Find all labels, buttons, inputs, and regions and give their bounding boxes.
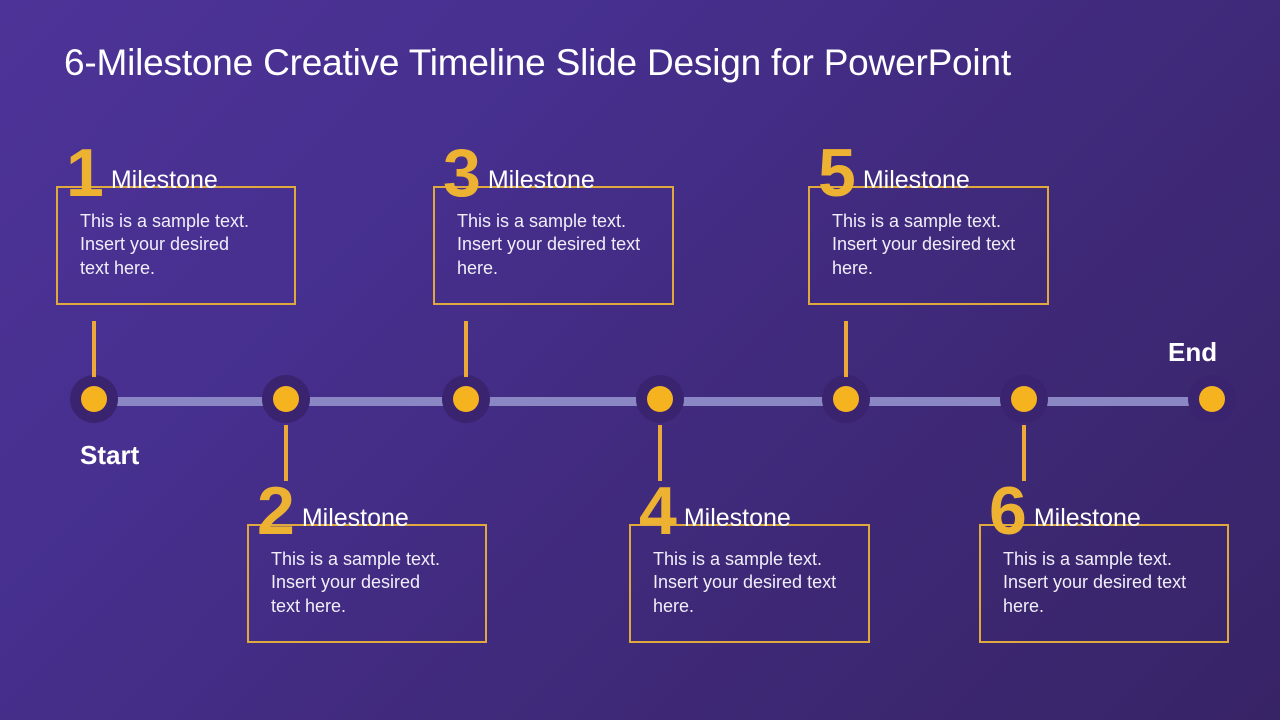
timeline-node-dot	[647, 386, 673, 412]
milestone-label: Milestone	[488, 166, 595, 202]
timeline-node-5[interactable]	[822, 375, 870, 423]
milestone-label: Milestone	[684, 504, 791, 540]
milestone-6[interactable]: 6MilestoneThis is a sample text. Insert …	[979, 478, 1229, 643]
milestone-body-text: This is a sample text. Insert your desir…	[1003, 548, 1209, 618]
milestone-number: 6	[989, 484, 1025, 540]
milestone-body-text: This is a sample text. Insert your desir…	[832, 210, 1029, 280]
milestone-header-4: 4Milestone	[639, 478, 870, 540]
milestone-3[interactable]: 3MilestoneThis is a sample text. Insert …	[433, 140, 674, 305]
milestone-body-text: This is a sample text. Insert your desir…	[653, 548, 850, 618]
page-title: 6-Milestone Creative Timeline Slide Desi…	[64, 42, 1224, 84]
timeline-node-6[interactable]	[1000, 375, 1048, 423]
timeline-node-dot	[81, 386, 107, 412]
start-label: Start	[80, 440, 139, 471]
milestone-2[interactable]: 2MilestoneThis is a sample text. Insert …	[247, 478, 487, 643]
milestone-1[interactable]: 1MilestoneThis is a sample text. Insert …	[56, 140, 296, 305]
milestone-5[interactable]: 5MilestoneThis is a sample text. Insert …	[808, 140, 1049, 305]
milestone-label: Milestone	[302, 504, 409, 540]
milestone-header-2: 2Milestone	[257, 478, 487, 540]
milestone-body-text: This is a sample text. Insert your desir…	[457, 210, 654, 280]
timeline-node-7[interactable]	[1188, 375, 1236, 423]
milestone-header-1: 1Milestone	[66, 140, 296, 202]
milestone-header-6: 6Milestone	[989, 478, 1229, 540]
timeline-node-dot	[453, 386, 479, 412]
timeline-node-dot	[273, 386, 299, 412]
milestone-number: 4	[639, 484, 675, 540]
milestone-number: 1	[66, 146, 102, 202]
milestone-label: Milestone	[863, 166, 970, 202]
milestone-number: 3	[443, 146, 479, 202]
milestone-header-3: 3Milestone	[443, 140, 674, 202]
timeline-node-dot	[1011, 386, 1037, 412]
milestone-connector-3	[464, 321, 468, 377]
timeline-node-3[interactable]	[442, 375, 490, 423]
milestone-connector-1	[92, 321, 96, 377]
milestone-body-text: This is a sample text. Insert your desir…	[80, 210, 276, 280]
milestone-label: Milestone	[111, 166, 218, 202]
milestone-4[interactable]: 4MilestoneThis is a sample text. Insert …	[629, 478, 870, 643]
timeline-node-1[interactable]	[70, 375, 118, 423]
milestone-connector-5	[844, 321, 848, 377]
milestone-header-5: 5Milestone	[818, 140, 1049, 202]
milestone-number: 5	[818, 146, 854, 202]
milestone-number: 2	[257, 484, 293, 540]
timeline-node-dot	[1199, 386, 1225, 412]
timeline-node-4[interactable]	[636, 375, 684, 423]
milestone-label: Milestone	[1034, 504, 1141, 540]
timeline-node-dot	[833, 386, 859, 412]
timeline-node-2[interactable]	[262, 375, 310, 423]
end-label: End	[1168, 337, 1217, 368]
timeline-slide: 6-Milestone Creative Timeline Slide Desi…	[0, 0, 1280, 720]
milestone-body-text: This is a sample text. Insert your desir…	[271, 548, 467, 618]
